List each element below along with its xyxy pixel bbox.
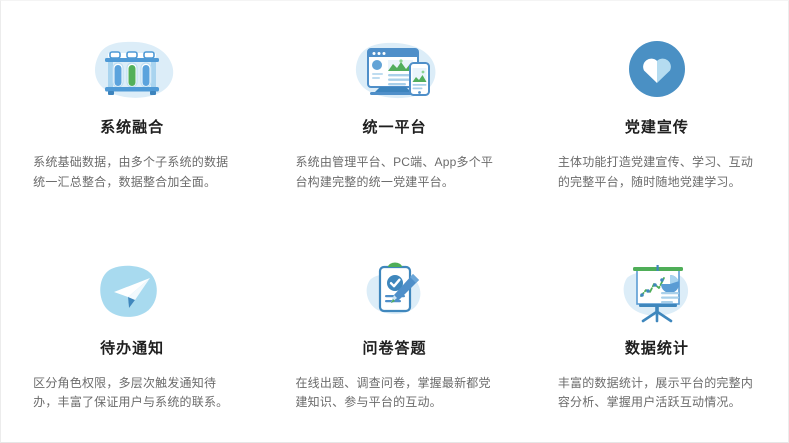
feature-card-description: 区分角色权限，多层次触发通知待办，丰富了保证用户与系统的联系。: [33, 374, 231, 414]
feature-card-unified-platform[interactable]: 统一平台 系统由管理平台、PC端、App多个平台构建完整的统一党建平台。: [263, 1, 525, 222]
feature-card-title: 统一平台: [362, 119, 426, 137]
feature-card-title: 待办通知: [100, 340, 164, 358]
feature-card-description: 系统基础数据，由多个子系统的数据统一汇总整合，数据整合加全面。: [33, 153, 231, 193]
feature-card-description: 在线出题、调查问卷，掌握最新都党建知识、参与平台的互动。: [295, 374, 493, 414]
feature-card-title: 数据统计: [625, 340, 689, 358]
feature-card-title: 问卷答题: [362, 340, 426, 358]
paper-plane-icon: [82, 252, 182, 330]
feature-card-title: 党建宣传: [625, 119, 689, 137]
test-tube-rack-icon: [82, 31, 182, 109]
feature-card-title: 系统融合: [100, 119, 164, 137]
feature-card-system-integration[interactable]: 系统融合 系统基础数据，由多个子系统的数据统一汇总整合，数据整合加全面。: [1, 1, 263, 222]
chart-easel-icon: [607, 252, 707, 330]
feature-card-description: 丰富的数据统计，展示平台的完整内容分析、掌握用户活跃互动情况。: [558, 374, 756, 414]
clipboard-check-pencil-icon: [344, 252, 444, 330]
feature-card-questionnaire[interactable]: 问卷答题 在线出题、调查问卷，掌握最新都党建知识、参与平台的互动。: [263, 222, 525, 443]
features-panel: 系统融合 系统基础数据，由多个子系统的数据统一汇总整合，数据整合加全面。: [0, 0, 789, 443]
feature-card-description: 系统由管理平台、PC端、App多个平台构建完整的统一党建平台。: [295, 153, 493, 193]
feature-card-party-promotion[interactable]: 党建宣传 主体功能打造党建宣传、学习、互动的完整平台，随时随地党建学习。: [526, 1, 788, 222]
heart-circle-icon: [607, 31, 707, 109]
feature-card-data-statistics[interactable]: 数据统计 丰富的数据统计，展示平台的完整内容分析、掌握用户活跃互动情况。: [526, 222, 788, 443]
feature-card-todo-notification[interactable]: 待办通知 区分角色权限，多层次触发通知待办，丰富了保证用户与系统的联系。: [1, 222, 263, 443]
feature-card-description: 主体功能打造党建宣传、学习、互动的完整平台，随时随地党建学习。: [558, 153, 756, 193]
features-grid: 系统融合 系统基础数据，由多个子系统的数据统一汇总整合，数据整合加全面。: [1, 1, 788, 442]
desktop-and-mobile-platform-icon: [344, 31, 444, 109]
